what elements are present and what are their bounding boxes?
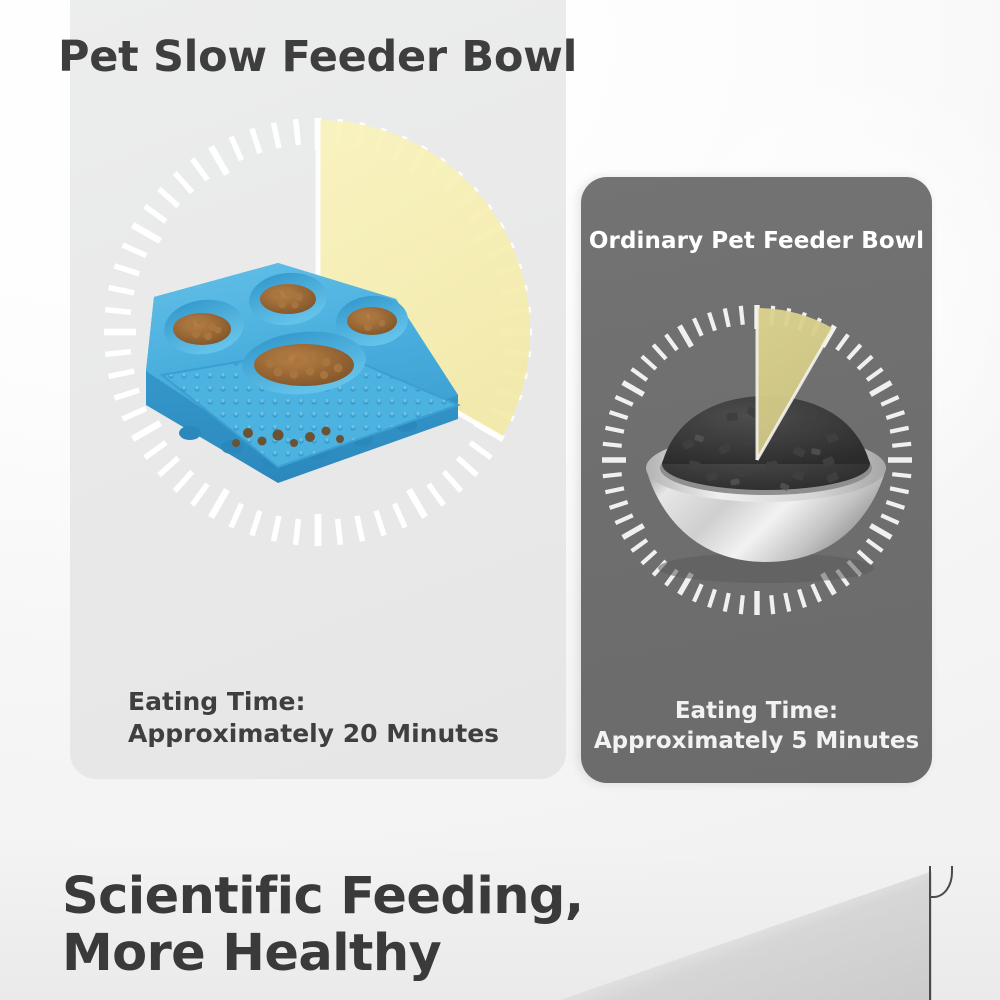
ordinary-bowl-title: Ordinary Pet Feeder Bowl — [581, 228, 932, 254]
poster-background: Eating Time: Approximately 20 Minutes Or… — [0, 0, 1000, 1000]
tagline-line-2: More Healthy — [62, 925, 584, 982]
left-eating-time-caption: Eating Time: Approximately 20 Minutes — [128, 686, 548, 750]
corner-rod-icon — [929, 866, 931, 1000]
right-caption-line-1: Eating Time: — [581, 697, 932, 727]
left-caption-line-1: Eating Time: — [128, 686, 548, 718]
right-eating-time-caption: Eating Time: Approximately 5 Minutes — [581, 697, 932, 757]
tagline-line-1: Scientific Feeding, — [62, 868, 584, 925]
corner-hook-icon — [929, 866, 953, 898]
left-caption-line-2: Approximately 20 Minutes — [128, 718, 548, 750]
tagline: Scientific Feeding, More Healthy — [62, 868, 584, 982]
page-title: Pet Slow Feeder Bowl — [58, 32, 577, 82]
corner-shadow — [560, 860, 932, 1000]
stainless-steel-bowl — [630, 390, 900, 590]
right-caption-line-2: Approximately 5 Minutes — [581, 727, 932, 757]
slow-feeder-mat — [128, 255, 468, 525]
